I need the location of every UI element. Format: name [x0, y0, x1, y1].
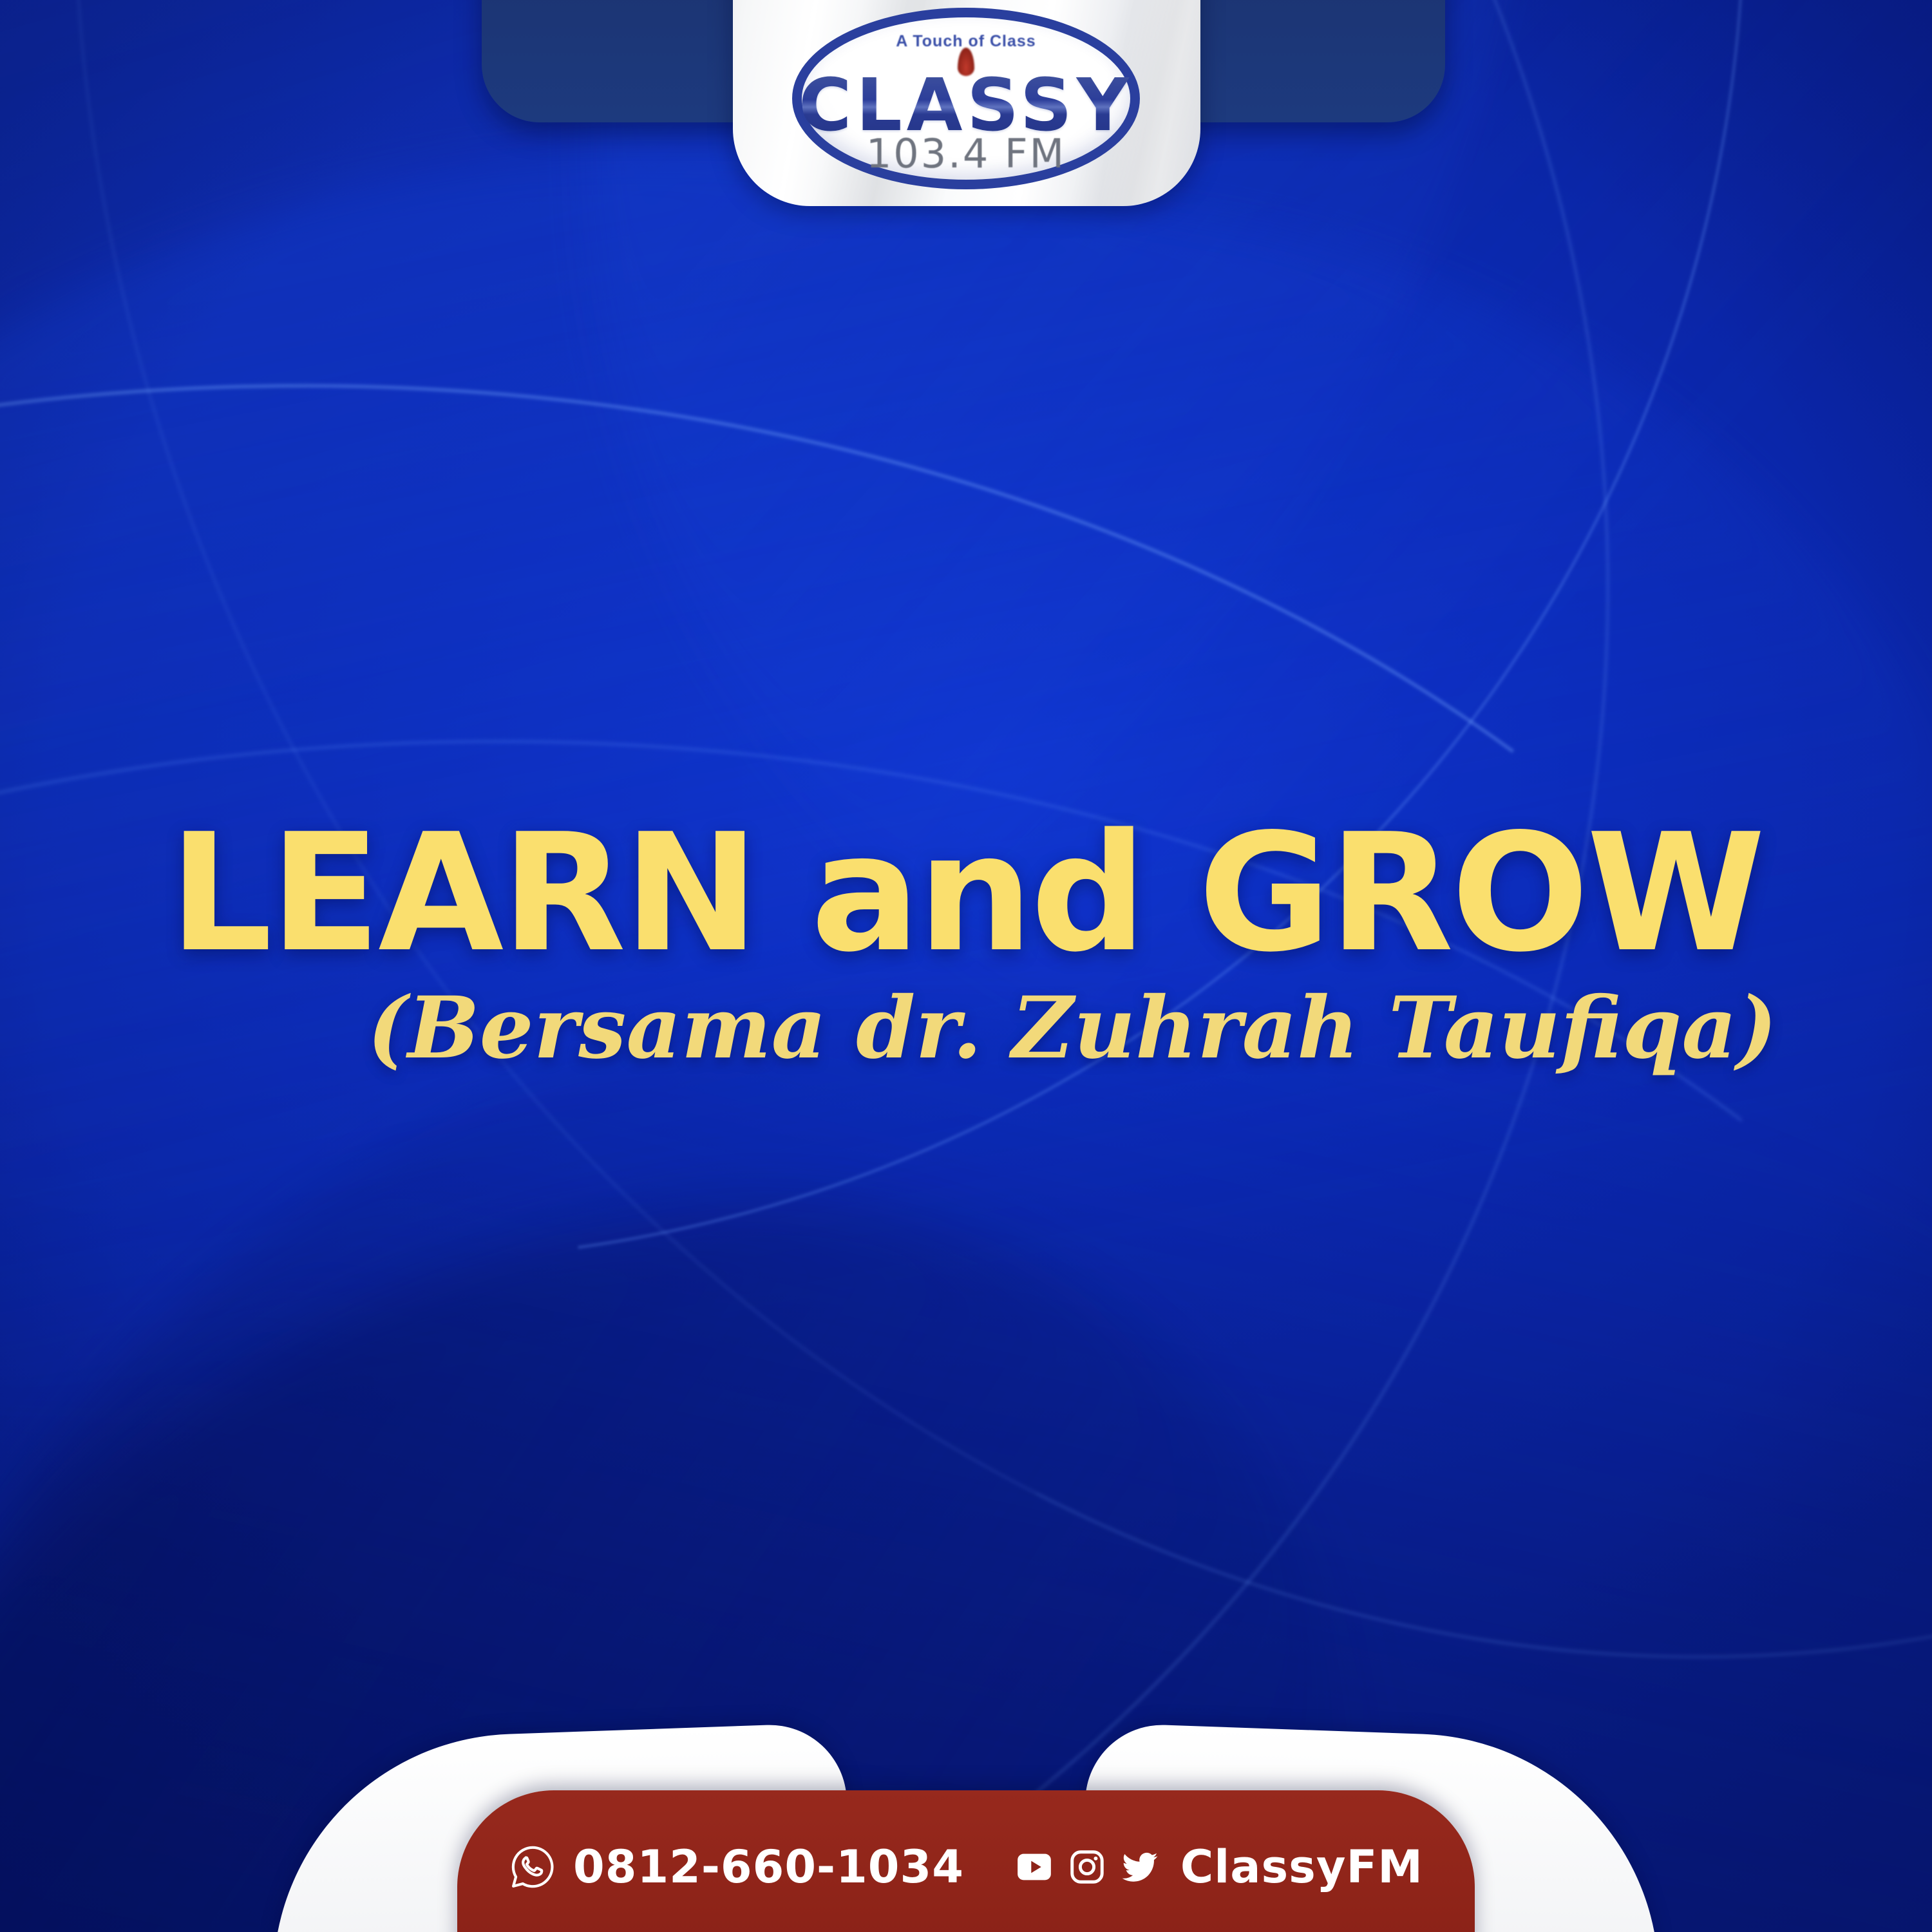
- poster-canvas: A Touch of Class CLASSY 103.4 FM LEARN a…: [0, 0, 1932, 1932]
- social-icon-group: [1013, 1846, 1161, 1888]
- instagram-icon[interactable]: [1067, 1847, 1107, 1887]
- classy-fm-logo: A Touch of Class CLASSY 103.4 FM: [763, 8, 1169, 194]
- contact-bar: 0812-660-1034: [457, 1790, 1475, 1932]
- whatsapp-icon[interactable]: [509, 1843, 556, 1891]
- page-title: LEARN and GROW: [0, 815, 1932, 974]
- phone-number[interactable]: 0812-660-1034: [573, 1841, 964, 1893]
- twitter-icon[interactable]: [1119, 1846, 1161, 1888]
- page-subtitle: (Bersama dr. Zuhrah Taufiqa): [0, 984, 1932, 1074]
- contact-row: 0812-660-1034: [457, 1841, 1475, 1893]
- social-handle[interactable]: ClassyFM: [1180, 1841, 1423, 1893]
- logo-frequency: 103.4 FM: [763, 134, 1169, 174]
- youtube-icon[interactable]: [1013, 1846, 1056, 1888]
- headline-block: LEARN and GROW (Bersama dr. Zuhrah Taufi…: [0, 815, 1932, 1074]
